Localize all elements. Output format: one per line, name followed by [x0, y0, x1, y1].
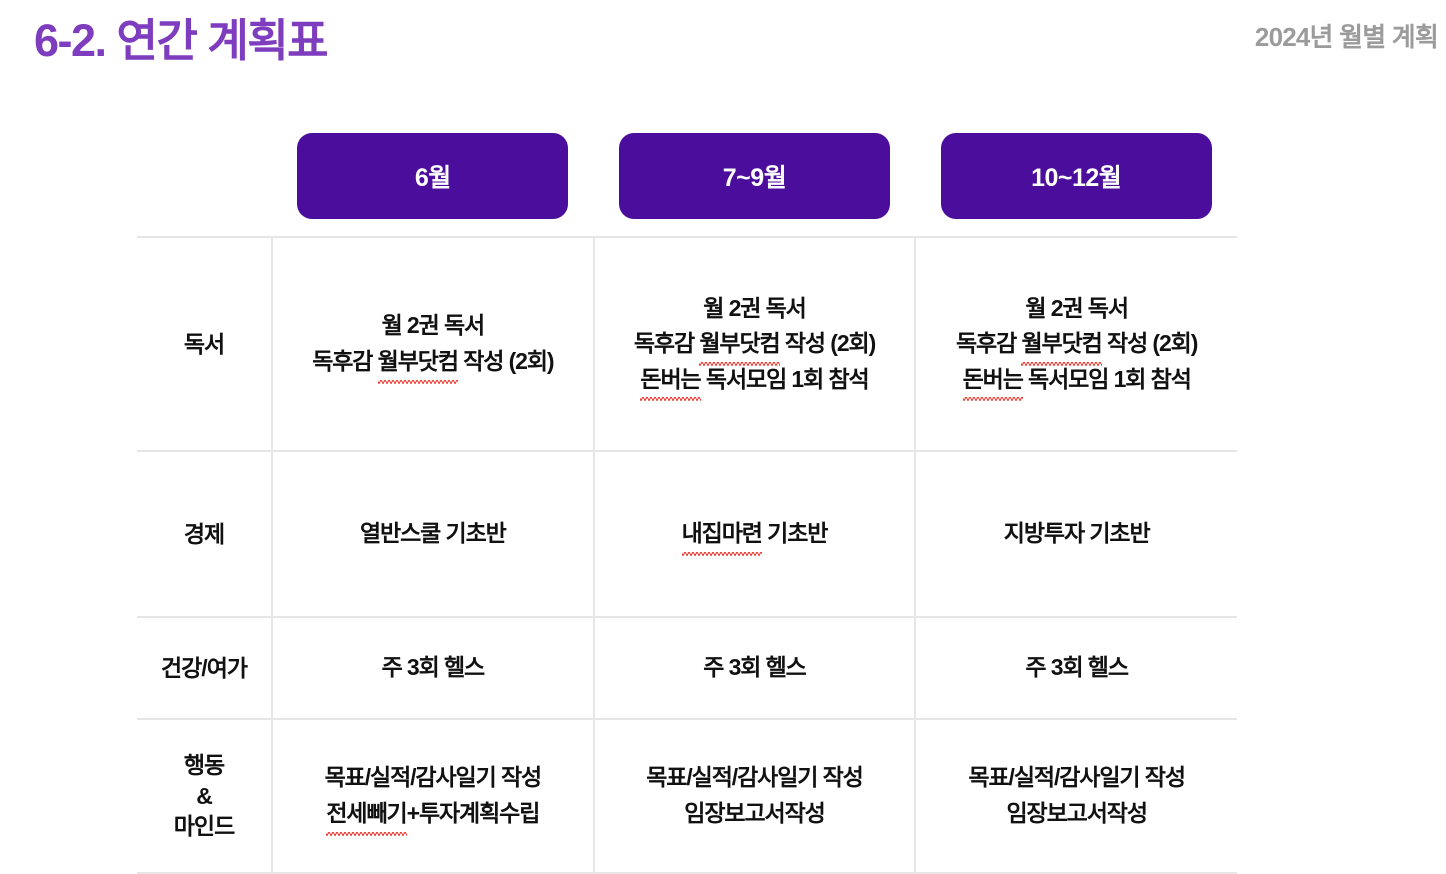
cell-action-mind-q4: 목표/실적/감사일기 작성임장보고서작성	[915, 719, 1237, 873]
row-label-health: 건강/여가	[137, 617, 272, 719]
row-label-action-mind: 행동&마인드	[137, 719, 272, 873]
column-header-pill-q4[interactable]: 10~12월	[941, 133, 1212, 219]
label-line: 마인드	[137, 811, 271, 841]
slide-subtitle: 2024년 월별 계획	[1255, 22, 1438, 53]
column-header-cell-3: 10~12월	[915, 133, 1237, 219]
cell-line: 돈버는 독서모임 1회 참석	[920, 362, 1233, 398]
cell-line: 임장보고서작성	[599, 796, 911, 832]
spellcheck-underline: 내집마련	[682, 516, 762, 552]
cell-reading-q4: 월 2권 독서독후감 월부닷컴 작성 (2회)돈버는 독서모임 1회 참석	[915, 237, 1237, 451]
table-row: 건강/여가 주 3회 헬스 주 3회 헬스 주 3회 헬스	[137, 617, 1237, 719]
row-label-economy: 경제	[137, 451, 272, 617]
page-title: 6-2. 연간 계획표	[34, 14, 327, 68]
label-line: 행동	[137, 750, 271, 780]
slide-canvas: 6-2. 연간 계획표 2024년 월별 계획 6월 7~9월 10~12월 독…	[0, 0, 1446, 809]
cell-line: 독후감 월부닷컴 작성 (2회)	[277, 344, 589, 380]
cell-economy-q4: 지방투자 기초반	[915, 451, 1237, 617]
cell-health-q3: 주 3회 헬스	[594, 617, 916, 719]
cell-line: 월 2권 독서	[920, 291, 1233, 327]
header-row-spacer	[137, 133, 272, 219]
cell-action-mind-q3: 목표/실적/감사일기 작성임장보고서작성	[594, 719, 916, 873]
column-header-cell-1: 6월	[272, 133, 594, 219]
cell-line: 주 3회 헬스	[920, 650, 1233, 686]
cell-line: 월 2권 독서	[277, 308, 589, 344]
cell-line: 임장보고서작성	[920, 796, 1233, 832]
cell-line: 주 3회 헬스	[277, 650, 589, 686]
cell-reading-q2: 월 2권 독서독후감 월부닷컴 작성 (2회)	[272, 237, 594, 451]
label-line: 독서	[137, 329, 271, 359]
column-header-pill-q2[interactable]: 6월	[297, 133, 568, 219]
cell-line: 월 2권 독서	[599, 291, 911, 327]
spellcheck-underline: 돈버는	[640, 362, 700, 398]
spellcheck-underline: 월부닷컴	[699, 326, 779, 362]
cell-economy-q2: 열반스쿨 기초반	[272, 451, 594, 617]
cell-line: 전세빼기+투자계획수립	[277, 796, 589, 832]
cell-line: 독후감 월부닷컴 작성 (2회)	[920, 326, 1233, 362]
column-header-cell-2: 7~9월	[594, 133, 916, 219]
cell-line: 독후감 월부닷컴 작성 (2회)	[599, 326, 911, 362]
label-line: 경제	[137, 519, 271, 549]
cell-line: 목표/실적/감사일기 작성	[599, 760, 911, 796]
cell-line: 돈버는 독서모임 1회 참석	[599, 362, 911, 398]
label-line: 건강/여가	[137, 653, 271, 683]
cell-line: 지방투자 기초반	[920, 516, 1233, 552]
annual-plan-table: 독서 월 2권 독서독후감 월부닷컴 작성 (2회) 월 2권 독서독후감 월부…	[137, 236, 1237, 874]
row-label-reading: 독서	[137, 237, 272, 451]
spellcheck-underline: 돈버는	[963, 362, 1023, 398]
spellcheck-underline: 전세빼기	[326, 796, 406, 832]
plan-table-body: 독서 월 2권 독서독후감 월부닷컴 작성 (2회) 월 2권 독서독후감 월부…	[137, 237, 1237, 873]
cell-health-q2: 주 3회 헬스	[272, 617, 594, 719]
column-header-pill-q3[interactable]: 7~9월	[619, 133, 890, 219]
cell-line: 목표/실적/감사일기 작성	[920, 760, 1233, 796]
cell-line: 주 3회 헬스	[599, 650, 911, 686]
cell-reading-q3: 월 2권 독서독후감 월부닷컴 작성 (2회)돈버는 독서모임 1회 참석	[594, 237, 916, 451]
cell-line: 목표/실적/감사일기 작성	[277, 760, 589, 796]
label-line: &	[137, 781, 271, 811]
column-header-row: 6월 7~9월 10~12월	[137, 133, 1237, 219]
cell-health-q4: 주 3회 헬스	[915, 617, 1237, 719]
cell-line: 열반스쿨 기초반	[277, 516, 589, 552]
spellcheck-underline: 월부닷컴	[1021, 326, 1101, 362]
table-row: 경제 열반스쿨 기초반 내집마련 기초반 지방투자 기초반	[137, 451, 1237, 617]
cell-economy-q3: 내집마련 기초반	[594, 451, 916, 617]
cell-action-mind-q2: 목표/실적/감사일기 작성전세빼기+투자계획수립	[272, 719, 594, 873]
table-row: 독서 월 2권 독서독후감 월부닷컴 작성 (2회) 월 2권 독서독후감 월부…	[137, 237, 1237, 451]
spellcheck-underline: 월부닷컴	[378, 344, 458, 380]
table-row: 행동&마인드 목표/실적/감사일기 작성전세빼기+투자계획수립 목표/실적/감사…	[137, 719, 1237, 873]
cell-line: 내집마련 기초반	[599, 516, 911, 552]
